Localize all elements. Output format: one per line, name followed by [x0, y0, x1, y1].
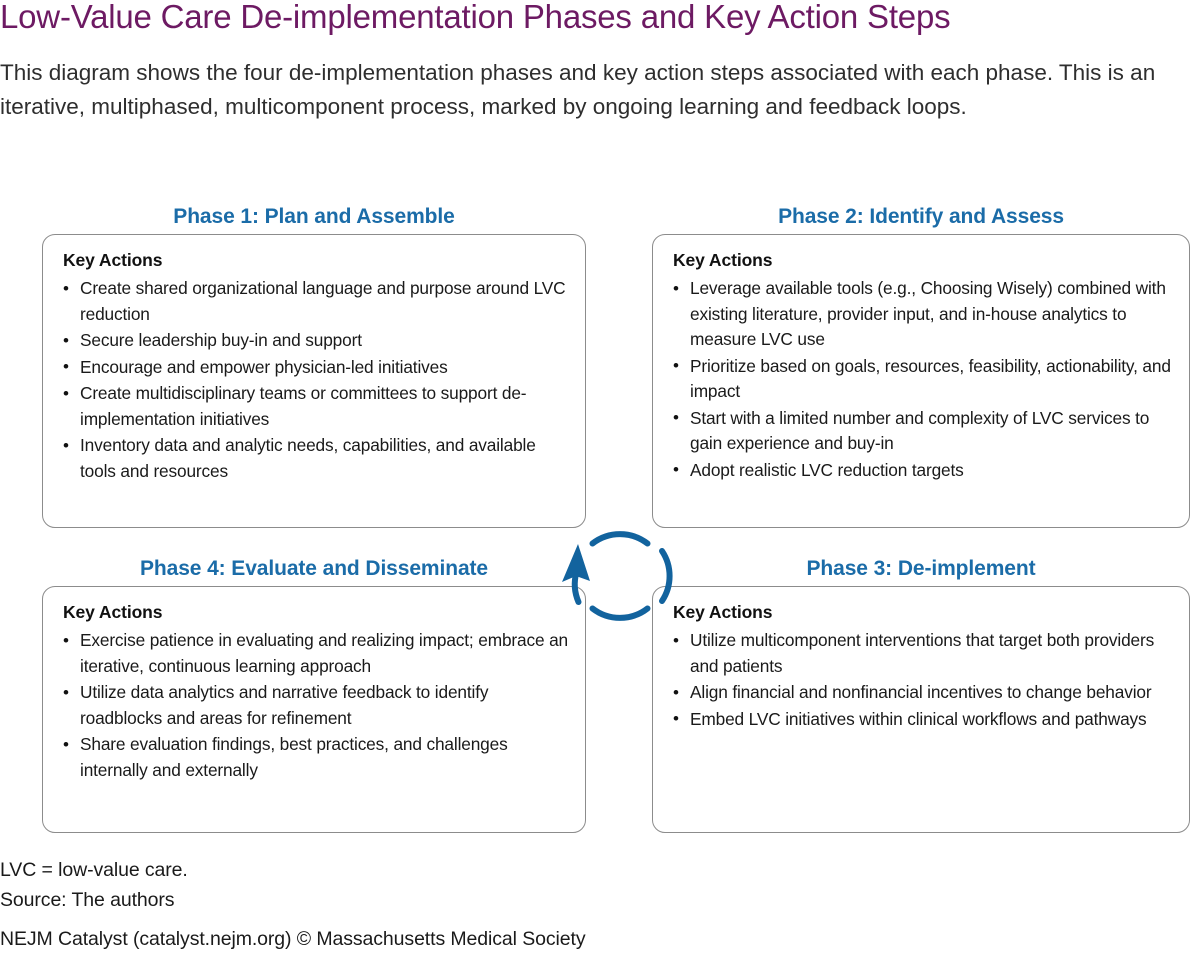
bullet-icon: •: [63, 381, 69, 407]
list-item: •Leverage available tools (e.g., Choosin…: [673, 276, 1173, 353]
action-text: Share evaluation findings, best practice…: [80, 734, 508, 780]
phase-4-key-actions-label: Key Actions: [63, 601, 569, 623]
phase-1-group: Phase 1: Plan and Assemble Key Actions •…: [42, 204, 586, 528]
action-text: Utilize multicomponent interventions tha…: [690, 630, 1154, 676]
bullet-icon: •: [673, 405, 679, 431]
list-item: •Prioritize based on goals, resources, f…: [673, 354, 1173, 405]
action-text: Prioritize based on goals, resources, fe…: [690, 356, 1171, 402]
list-item: •Embed LVC initiatives within clinical w…: [673, 707, 1173, 733]
phases-diagram: Phase 1: Plan and Assemble Key Actions •…: [0, 196, 1192, 846]
phase-3-action-list: •Utilize multicomponent interventions th…: [673, 628, 1173, 732]
bullet-icon: •: [63, 276, 69, 302]
bullet-icon: •: [673, 457, 679, 483]
phase-4-heading: Phase 4: Evaluate and Disseminate: [42, 556, 586, 586]
action-text: Start with a limited number and complexi…: [690, 408, 1149, 454]
bullet-icon: •: [63, 628, 69, 654]
phase-1-action-list: •Create shared organizational language a…: [63, 276, 569, 484]
action-text: Leverage available tools (e.g., Choosing…: [690, 278, 1166, 349]
phase-3-box: Key Actions •Utilize multicomponent inte…: [652, 586, 1190, 833]
bullet-icon: •: [673, 680, 679, 706]
footer: LVC = low-value care. Source: The author…: [0, 855, 1185, 954]
abbreviation-note: LVC = low-value care.: [0, 855, 1185, 885]
phase-4-box: Key Actions •Exercise patience in evalua…: [42, 586, 586, 833]
phase-2-group: Phase 2: Identify and Assess Key Actions…: [652, 204, 1190, 528]
action-text: Create shared organizational language an…: [80, 278, 565, 324]
list-item: •Share evaluation findings, best practic…: [63, 732, 569, 783]
list-item: •Encourage and empower physician-led ini…: [63, 355, 569, 381]
action-text: Secure leadership buy-in and support: [80, 330, 362, 350]
phase-2-box: Key Actions •Leverage available tools (e…: [652, 234, 1190, 528]
page-subtitle: This diagram shows the four de-implement…: [0, 56, 1185, 123]
action-text: Exercise patience in evaluating and real…: [80, 630, 568, 676]
phase-2-action-list: •Leverage available tools (e.g., Choosin…: [673, 276, 1173, 483]
action-text: Inventory data and analytic needs, capab…: [80, 435, 536, 481]
page-title: Low-Value Care De-implementation Phases …: [0, 0, 1185, 38]
list-item: •Secure leadership buy-in and support: [63, 328, 569, 354]
bullet-icon: •: [673, 276, 679, 302]
list-item: •Inventory data and analytic needs, capa…: [63, 433, 569, 484]
bullet-icon: •: [63, 433, 69, 459]
list-item: •Create multidisciplinary teams or commi…: [63, 381, 569, 432]
list-item: •Start with a limited number and complex…: [673, 406, 1173, 457]
source-note: Source: The authors: [0, 885, 1185, 915]
list-item: •Utilize multicomponent interventions th…: [673, 628, 1173, 679]
phase-2-heading: Phase 2: Identify and Assess: [652, 204, 1190, 234]
phase-1-key-actions-label: Key Actions: [63, 249, 569, 271]
list-item: •Align financial and nonfinancial incent…: [673, 680, 1173, 706]
action-text: Adopt realistic LVC reduction targets: [690, 460, 964, 480]
phase-2-key-actions-label: Key Actions: [673, 249, 1173, 271]
action-text: Utilize data analytics and narrative fee…: [80, 682, 488, 728]
bullet-icon: •: [63, 680, 69, 706]
phase-3-heading: Phase 3: De-implement: [652, 556, 1190, 586]
bullet-icon: •: [673, 353, 679, 379]
list-item: •Exercise patience in evaluating and rea…: [63, 628, 569, 679]
action-text: Align financial and nonfinancial incenti…: [690, 682, 1151, 702]
list-item: •Create shared organizational language a…: [63, 276, 569, 327]
list-item: •Utilize data analytics and narrative fe…: [63, 680, 569, 731]
action-text: Embed LVC initiatives within clinical wo…: [690, 709, 1147, 729]
bullet-icon: •: [63, 354, 69, 380]
phase-3-key-actions-label: Key Actions: [673, 601, 1173, 623]
phase-1-heading: Phase 1: Plan and Assemble: [42, 204, 586, 234]
bullet-icon: •: [673, 628, 679, 654]
bullet-icon: •: [63, 328, 69, 354]
action-text: Encourage and empower physician-led init…: [80, 357, 448, 377]
bullet-icon: •: [673, 706, 679, 732]
phase-3-group: Phase 3: De-implement Key Actions •Utili…: [652, 556, 1190, 833]
action-text: Create multidisciplinary teams or commit…: [80, 383, 526, 429]
bullet-icon: •: [63, 732, 69, 758]
phase-4-action-list: •Exercise patience in evaluating and rea…: [63, 628, 569, 783]
phase-1-box: Key Actions •Create shared organizationa…: [42, 234, 586, 528]
phase-4-group: Phase 4: Evaluate and Disseminate Key Ac…: [42, 556, 586, 833]
list-item: •Adopt realistic LVC reduction targets: [673, 458, 1173, 484]
